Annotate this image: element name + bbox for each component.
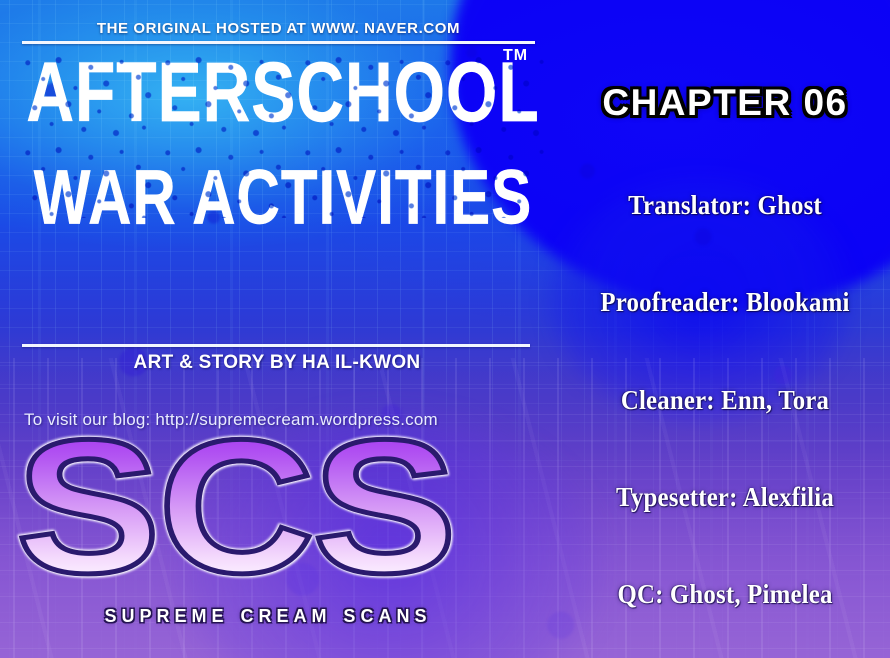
series-title: AFTERSCHOOL WAR ACTIVITIES	[18, 52, 548, 218]
credit-proofreader: Proofreader: Blookami	[573, 287, 877, 318]
credit-cleaner: Cleaner: Enn, Tora	[573, 385, 877, 416]
divider-middle	[22, 344, 530, 347]
chapter-title-page: THE ORIGINAL HOSTED AT WWW. NAVER.COM AF…	[0, 0, 890, 658]
author-byline: ART & STORY BY HA IL-KWON	[22, 352, 532, 374]
credit-qc: QC: Ghost, Pimelea	[573, 579, 877, 610]
scs-logo-subtitle: Supreme Cream Scans	[28, 600, 508, 629]
source-note: THE ORIGINAL HOSTED AT WWW. NAVER.COM	[22, 20, 535, 37]
trademark-mark: TM	[503, 47, 528, 65]
series-title-line-1: AFTERSCHOOL	[18, 52, 548, 132]
scs-logo-letters: SCS	[16, 432, 455, 582]
scs-logo: SCS	[16, 432, 536, 602]
chapter-label: CHAPTER 06	[560, 82, 890, 124]
credits-list: Translator: Ghost Proofreader: Blookami …	[560, 190, 890, 610]
credit-translator: Translator: Ghost	[573, 190, 877, 221]
credit-typesetter: Typesetter: Alexfilia	[573, 482, 877, 513]
series-title-line-2: WAR ACTIVITIES	[18, 161, 548, 234]
